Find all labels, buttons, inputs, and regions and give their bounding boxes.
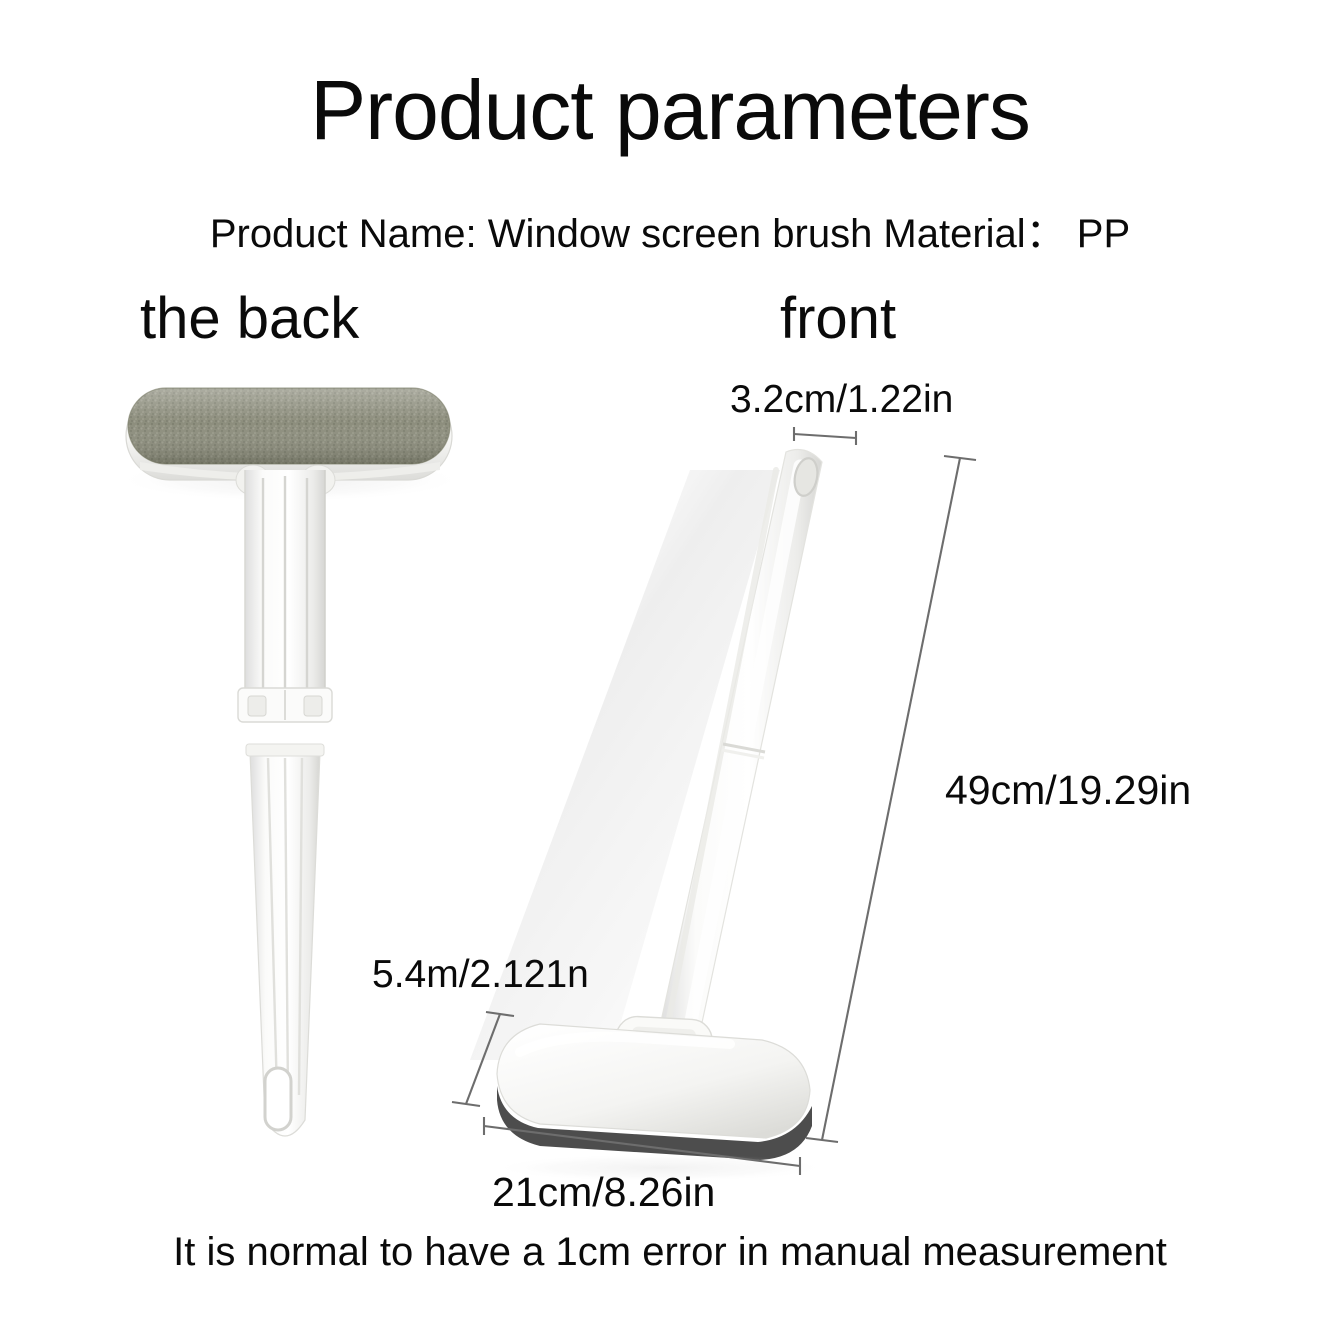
product-subtitle: Product Name: Window screen brush Materi… <box>0 214 1340 254</box>
product-parameters-image: Product parameters Product Name: Window … <box>0 0 1340 1340</box>
front-view-product <box>470 450 830 1182</box>
back-hanging-hole <box>265 1068 291 1130</box>
back-view-product <box>115 388 465 1136</box>
dimension-label-head-thickness: 3.2cm/1.22in <box>730 380 953 419</box>
back-handle-joint <box>238 688 332 722</box>
dimension-label-head-depth: 5.4m/2.121n <box>372 955 589 994</box>
front-head-plate <box>497 1024 812 1160</box>
product-illustration <box>0 0 1340 1340</box>
dimension-label-head-width: 21cm/8.26in <box>492 1172 715 1213</box>
label-front-view: front <box>780 290 896 348</box>
dimension-head-thickness <box>794 427 856 445</box>
dimension-label-total-length: 49cm/19.29in <box>945 770 1191 811</box>
label-back-view: the back <box>140 290 359 348</box>
measurement-disclaimer: It is normal to have a 1cm error in manu… <box>0 1232 1340 1272</box>
page-title: Product parameters <box>0 68 1340 152</box>
brush-pad <box>128 388 450 464</box>
back-handle-upper <box>245 470 325 695</box>
